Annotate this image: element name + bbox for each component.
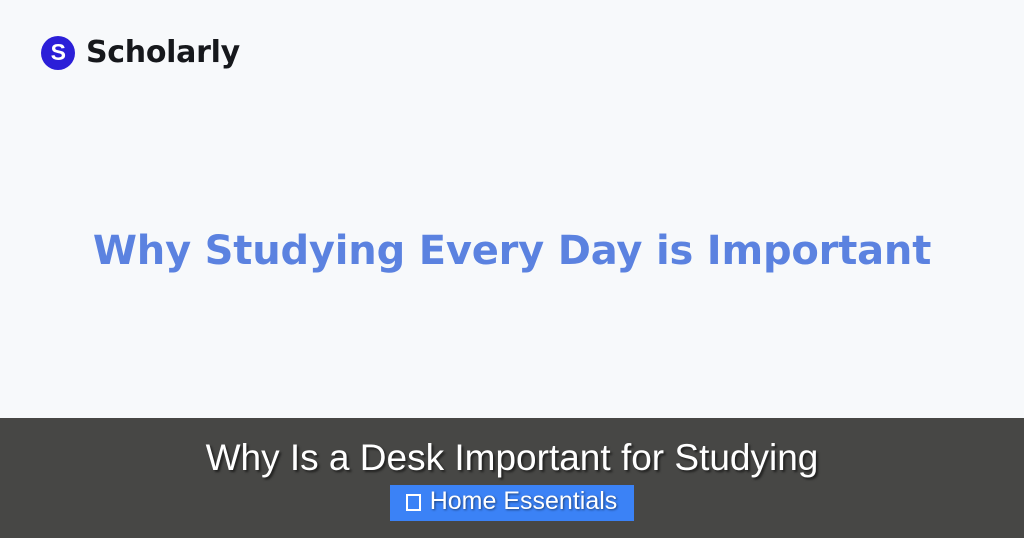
caption-chip-row: Home Essentials bbox=[0, 485, 1024, 521]
screenshot-root: S Scholarly Why Studying Every Day is Im… bbox=[0, 0, 1024, 538]
brand-logo[interactable]: S Scholarly bbox=[41, 36, 240, 70]
tofu-box-icon bbox=[406, 494, 421, 511]
category-chip-label: Home Essentials bbox=[430, 488, 618, 516]
logo-letter: S bbox=[51, 41, 66, 64]
caption-title: Why Is a Desk Important for Studying bbox=[0, 437, 1024, 478]
scholarly-logo-icon: S bbox=[41, 36, 75, 70]
caption-band: Why Is a Desk Important for Studying Hom… bbox=[0, 418, 1024, 538]
brand-name: Scholarly bbox=[86, 38, 240, 68]
article-panel: S Scholarly Why Studying Every Day is Im… bbox=[0, 0, 1024, 418]
article-headline: Why Studying Every Day is Important bbox=[0, 228, 1024, 275]
category-chip[interactable]: Home Essentials bbox=[390, 485, 635, 521]
